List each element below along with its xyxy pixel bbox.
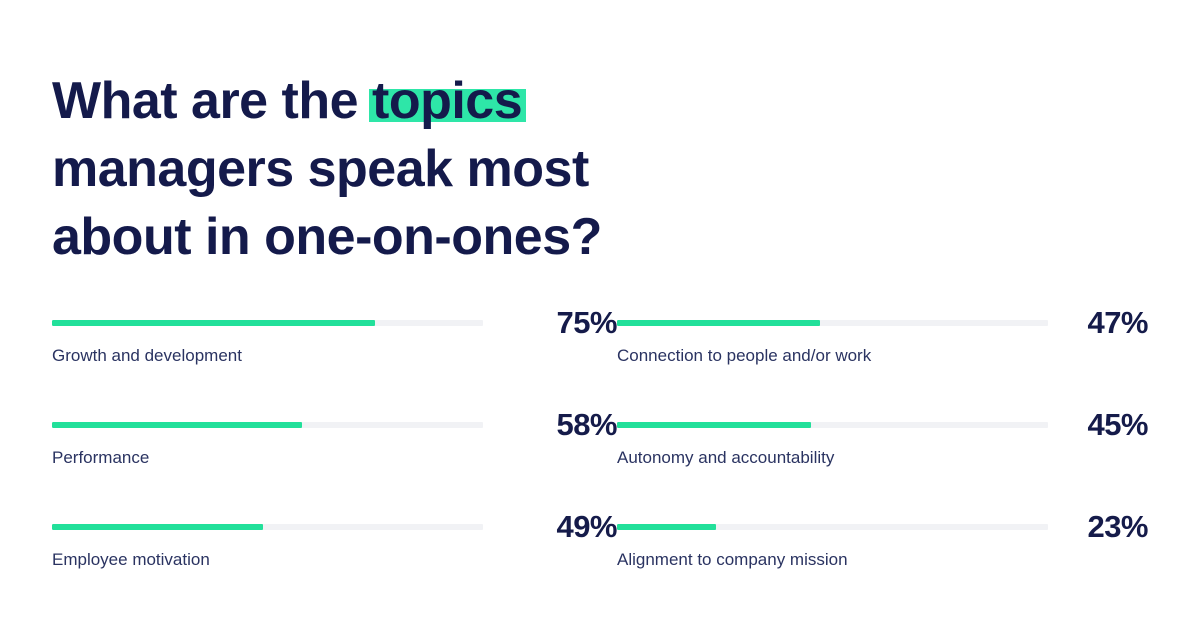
stat-row: Performance 58% <box>52 408 483 510</box>
infographic-canvas: What are the topics managers speak most … <box>0 0 1200 630</box>
progress-bar-track <box>52 524 483 530</box>
progress-bar-fill <box>52 524 263 530</box>
stat-row: Employee motivation 49% <box>52 510 483 612</box>
stat-label: Performance <box>52 446 149 470</box>
stat-value: 75% <box>483 305 617 341</box>
stat-label: Connection to people and/or work <box>617 344 871 368</box>
stat-row: Alignment to company mission 23% <box>617 510 1048 612</box>
page-title: What are the topics managers speak most … <box>52 67 812 271</box>
stat-value: 47% <box>1048 305 1148 341</box>
stat-row: Autonomy and accountability 45% <box>617 408 1048 510</box>
stat-label: Autonomy and accountability <box>617 446 834 470</box>
stat-row: Connection to people and/or work 47% <box>617 306 1048 408</box>
progress-bar-track <box>52 422 483 428</box>
stat-value: 49% <box>483 509 617 545</box>
progress-bar-track <box>617 422 1048 428</box>
title-line-3: about in one-on-ones? <box>52 203 812 271</box>
stat-row: Growth and development 75% <box>52 306 483 408</box>
title-highlighted-word: topics <box>372 67 522 135</box>
stat-label: Alignment to company mission <box>617 548 848 572</box>
progress-bar-track <box>617 320 1048 326</box>
progress-bar-fill <box>52 320 375 326</box>
progress-bar-track <box>617 524 1048 530</box>
title-line-1: What are the topics <box>52 67 812 135</box>
progress-bar-track <box>52 320 483 326</box>
stat-value: 23% <box>1048 509 1148 545</box>
progress-bar-fill <box>617 320 820 326</box>
title-line-2: managers speak most <box>52 135 812 203</box>
stat-value: 45% <box>1048 407 1148 443</box>
progress-bar-fill <box>617 422 811 428</box>
stat-label: Employee motivation <box>52 548 210 572</box>
title-text-before-highlight: What are the <box>52 72 372 130</box>
stats-grid: Growth and development 75% Connection to… <box>52 306 1148 612</box>
progress-bar-fill <box>617 524 716 530</box>
stat-value: 58% <box>483 407 617 443</box>
progress-bar-fill <box>52 422 302 428</box>
stat-label: Growth and development <box>52 344 242 368</box>
